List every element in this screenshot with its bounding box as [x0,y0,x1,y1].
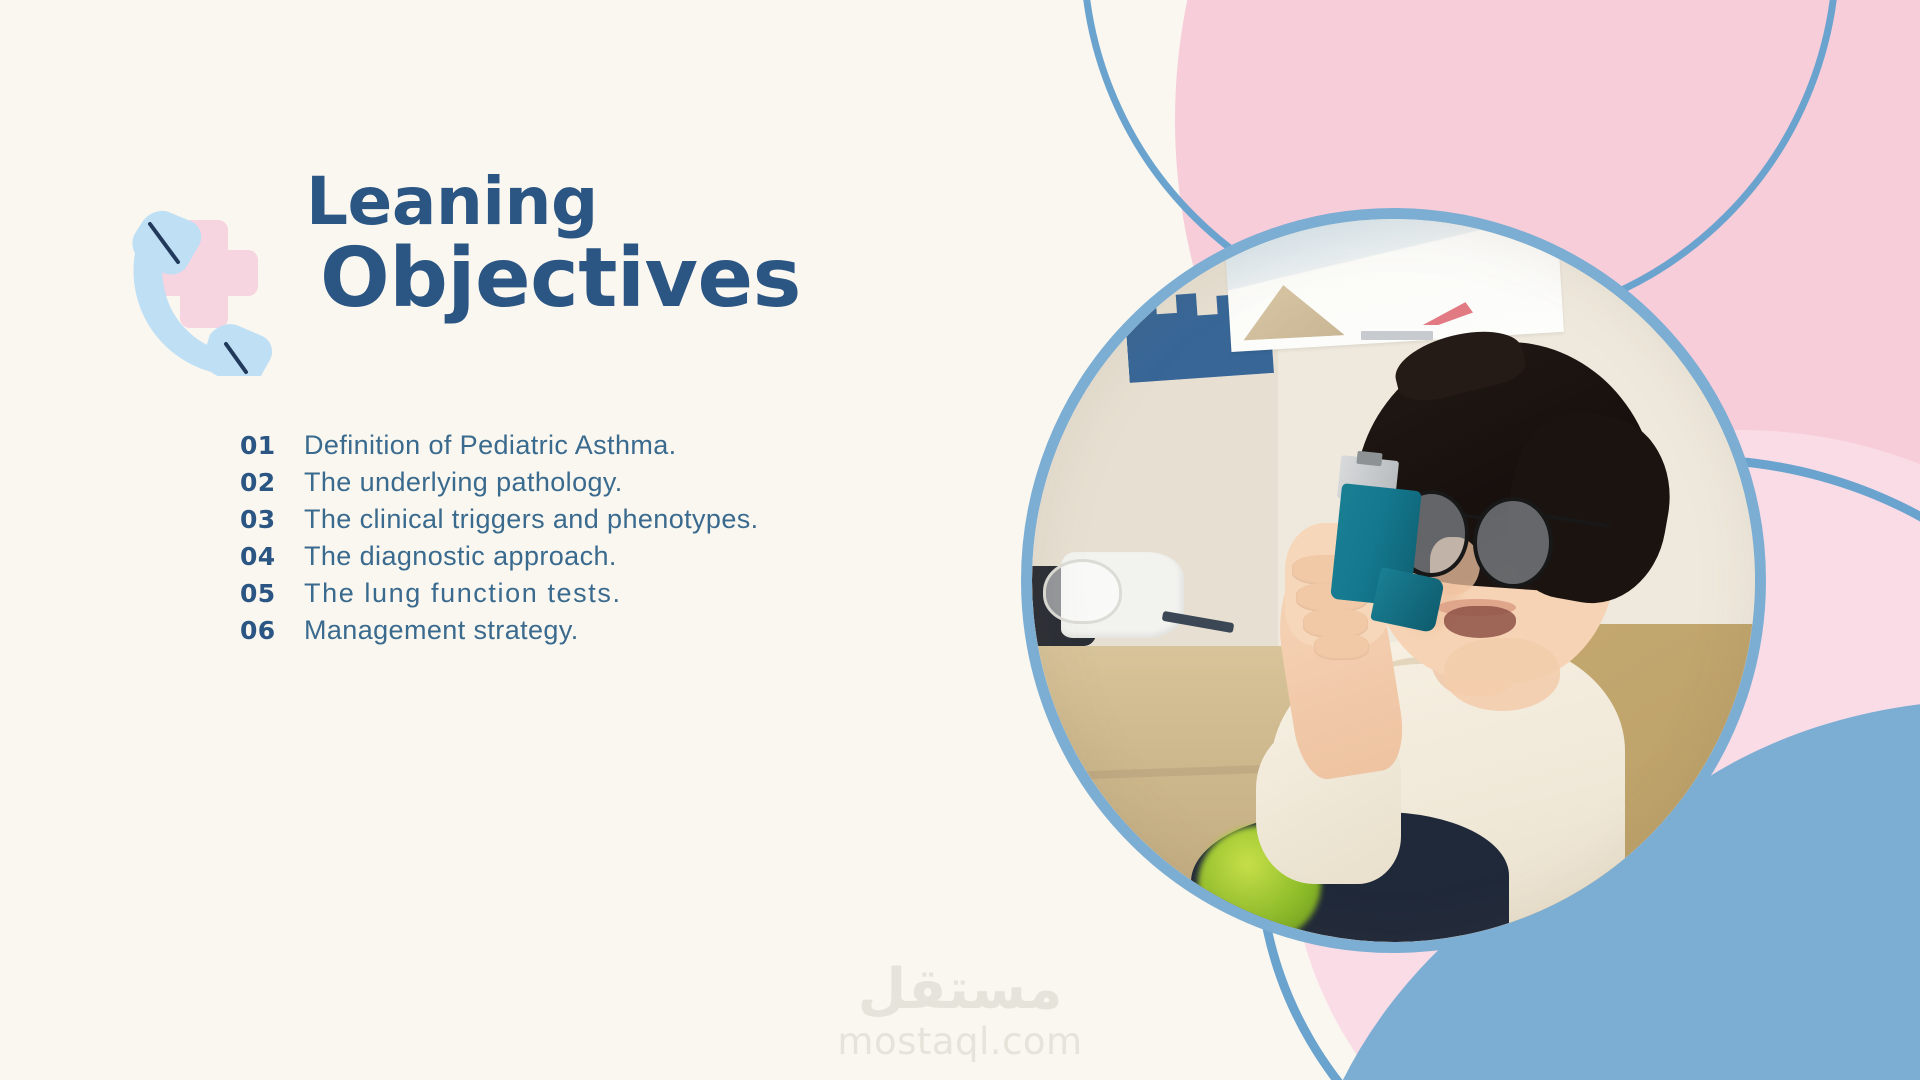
list-item-number: 04 [240,542,304,571]
list-item: 05 The lung function tests. [240,578,759,609]
boy-using-asthma-inhaler-photo [1032,219,1755,942]
list-item-label: Management strategy. [304,615,579,646]
list-item: 06 Management strategy. [240,615,759,646]
photo-circle-frame [1021,208,1766,953]
list-item-number: 05 [240,579,304,608]
list-item-number: 02 [240,468,304,497]
list-item-label: The clinical triggers and phenotypes. [304,504,759,535]
photo-vignette [1032,219,1755,942]
list-item-number: 01 [240,431,304,460]
title-block: Leaning Objectives [118,160,801,376]
title-line-1: Leaning [306,168,801,235]
list-item-label: The lung function tests. [304,578,622,609]
list-item-label: The underlying pathology. [304,467,623,498]
medical-phone-icon [118,176,288,376]
list-item: 04 The diagnostic approach. [240,541,759,572]
list-item: 03 The clinical triggers and phenotypes. [240,504,759,535]
slide-canvas: Leaning Objectives 01 Definition of Pedi… [0,0,1920,1080]
title-line-2: Objectives [320,237,801,321]
list-item-number: 06 [240,616,304,645]
medical-phone-icon-svg [118,176,288,376]
list-item: 02 The underlying pathology. [240,467,759,498]
page-title: Leaning Objectives [300,168,801,321]
content-column: Leaning Objectives 01 Definition of Pedi… [0,0,1020,1080]
list-item-label: Definition of Pediatric Asthma. [304,430,677,461]
objectives-list: 01 Definition of Pediatric Asthma. 02 Th… [240,430,759,646]
list-item: 01 Definition of Pediatric Asthma. [240,430,759,461]
list-item-label: The diagnostic approach. [304,541,617,572]
list-item-number: 03 [240,505,304,534]
